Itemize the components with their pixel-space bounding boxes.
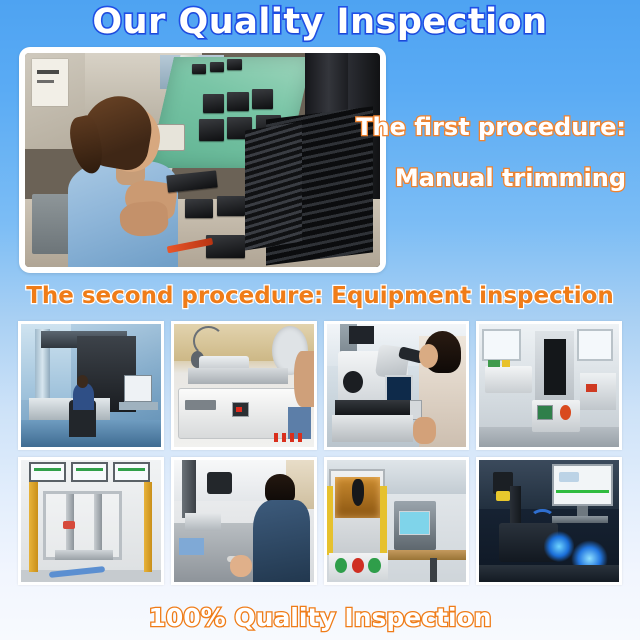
grid-photo-durability-rig — [18, 457, 164, 586]
hero-wall-notice — [32, 59, 68, 106]
hero-part — [199, 119, 224, 140]
hero-part — [185, 199, 213, 218]
first-procedure-photo — [25, 53, 380, 267]
hero-worker — [68, 96, 178, 267]
hero-part — [192, 64, 206, 75]
first-procedure-label-line2: Manual trimming — [395, 164, 626, 192]
hero-part — [217, 196, 245, 215]
grid-photo-vision-system — [476, 457, 622, 586]
first-procedure-label-line1: The first procedure: — [356, 113, 626, 141]
hero-part — [203, 94, 224, 113]
first-procedure-photo-frame — [19, 47, 386, 273]
page-title: Our Quality Inspection — [0, 2, 640, 42]
second-procedure-heading: The second procedure: Equipment inspecti… — [0, 283, 640, 309]
grid-photo-bench-operator — [171, 457, 317, 586]
grid-photo-lab-machines — [476, 321, 622, 450]
hero-part — [227, 92, 248, 111]
hero-part — [227, 59, 241, 70]
hero-part — [210, 62, 224, 73]
grid-photo-cmm-machine — [18, 321, 164, 450]
hero-part — [252, 89, 273, 108]
grid-photo-contour-tester — [171, 321, 317, 450]
hero-parts-stack-2 — [245, 121, 302, 250]
bottom-caption: 100% Quality Inspection — [0, 603, 640, 632]
equipment-photo-grid — [18, 321, 622, 585]
grid-photo-environment-chamber — [324, 457, 470, 586]
grid-photo-microscope-station — [324, 321, 470, 450]
